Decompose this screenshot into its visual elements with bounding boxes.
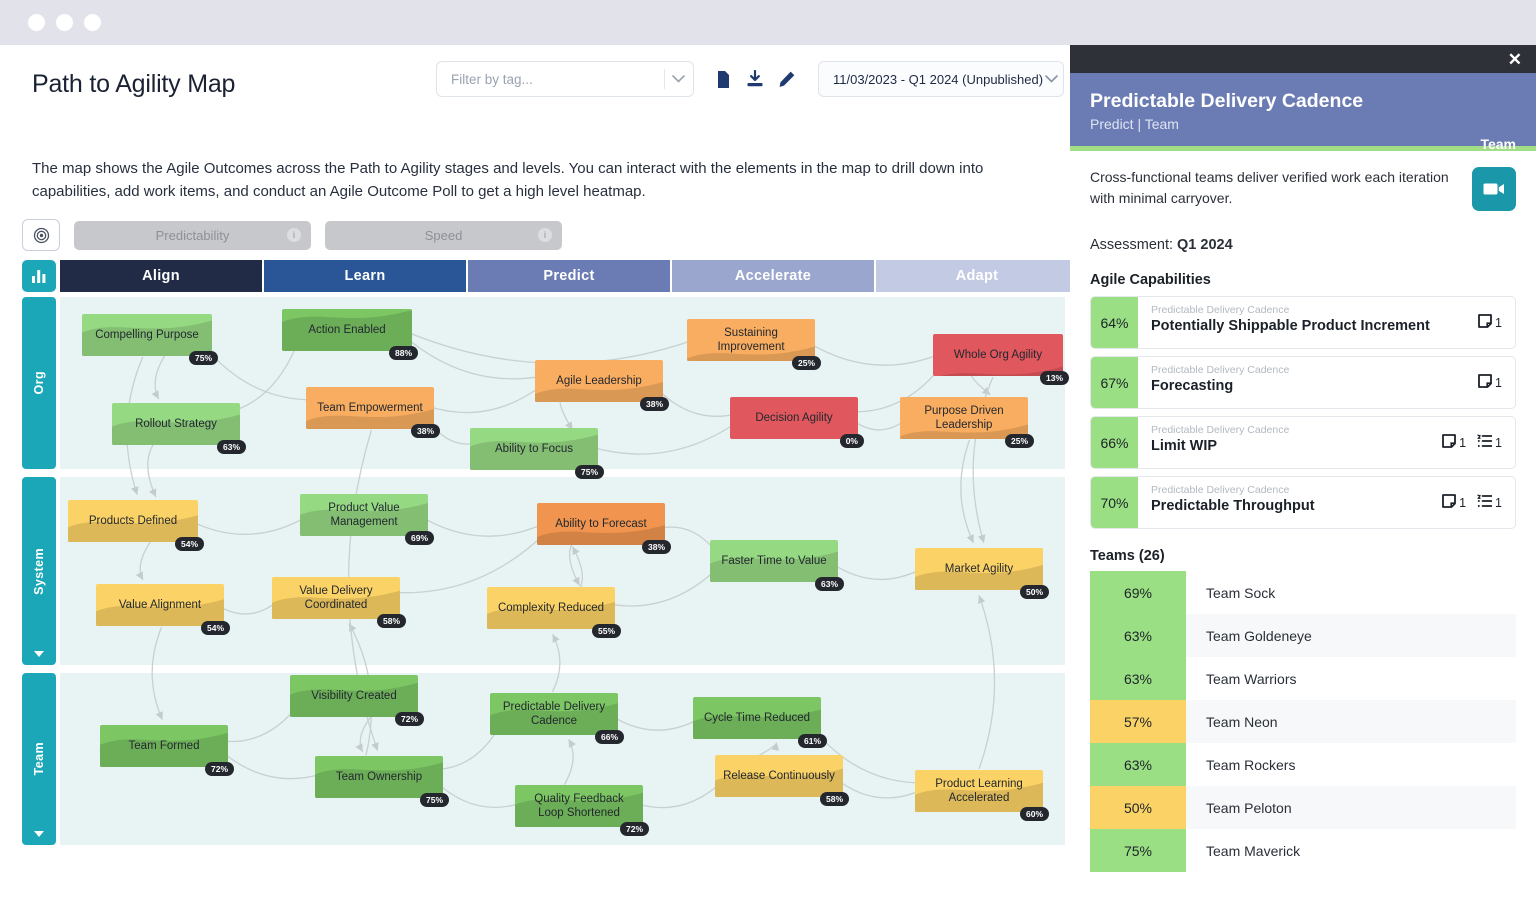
note-icon-group[interactable]: 1 bbox=[1442, 434, 1466, 451]
chart-icon-button[interactable] bbox=[22, 260, 56, 292]
map-node-label: Sustaining Improvement bbox=[694, 326, 808, 354]
team-name: Team Goldeneye bbox=[1186, 614, 1516, 657]
assessment-line: Assessment: Q1 2024 bbox=[1090, 237, 1516, 253]
team-name: Team Sock bbox=[1186, 571, 1516, 614]
team-name: Team Neon bbox=[1186, 700, 1516, 743]
map-node-label: Value Alignment bbox=[119, 598, 201, 612]
capability-name: Potentially Shippable Product Increment bbox=[1151, 317, 1478, 336]
map-node[interactable]: Value Delivery Coordinated58% bbox=[272, 577, 400, 619]
map-node-percent: 54% bbox=[201, 621, 230, 635]
map-node[interactable]: Market Agility50% bbox=[915, 548, 1043, 590]
map-node[interactable]: Ability to Focus75% bbox=[470, 428, 598, 470]
map-node[interactable]: Whole Org Agility13% bbox=[933, 334, 1063, 376]
checklist-icon-group[interactable]: 1 bbox=[1477, 494, 1502, 511]
map-node-label: Team Empowerment bbox=[317, 401, 422, 415]
target-icon-button[interactable] bbox=[22, 219, 60, 251]
map-node-percent: 25% bbox=[792, 356, 821, 370]
capability-icons: 11 bbox=[1442, 477, 1515, 528]
map-node[interactable]: Value Alignment54% bbox=[96, 584, 224, 626]
map-node-label: Decision Agility bbox=[755, 411, 832, 425]
checklist-count: 1 bbox=[1495, 496, 1502, 510]
team-percent: 63% bbox=[1090, 743, 1186, 786]
map-node-label: Predictable Delivery Cadence bbox=[497, 700, 611, 728]
stage-header-learn[interactable]: Learn bbox=[264, 260, 466, 292]
map-node-label: Cycle Time Reduced bbox=[704, 711, 810, 725]
stage-headers: AlignLearnPredictAccelerateAdapt bbox=[60, 260, 1078, 292]
collapse-caret-icon[interactable] bbox=[34, 651, 44, 657]
map-node-label: Market Agility bbox=[945, 562, 1013, 576]
team-percent: 63% bbox=[1090, 614, 1186, 657]
map-node-percent: 75% bbox=[189, 351, 218, 365]
level-rail-label: Team bbox=[32, 742, 46, 775]
map-node-label: Agile Leadership bbox=[556, 374, 642, 388]
panel-topbar: ✕ bbox=[1070, 45, 1536, 73]
capability-percent: 66% bbox=[1091, 417, 1138, 468]
info-icon[interactable]: i bbox=[287, 228, 301, 242]
map-node-label: Ability to Focus bbox=[495, 442, 573, 456]
map-node[interactable]: Sustaining Improvement25% bbox=[687, 319, 815, 361]
map-node[interactable]: Product Learning Accelerated60% bbox=[915, 770, 1043, 812]
note-icon bbox=[1478, 374, 1492, 391]
note-icon bbox=[1478, 314, 1492, 331]
map-node[interactable]: Ability to Forecast38% bbox=[537, 503, 665, 545]
checklist-icon bbox=[1477, 434, 1492, 451]
checklist-icon bbox=[1477, 494, 1492, 511]
chevron-down-icon[interactable] bbox=[1043, 75, 1059, 83]
map-node[interactable]: Product Value Management69% bbox=[300, 494, 428, 536]
note-icon-group[interactable]: 1 bbox=[1478, 374, 1502, 391]
teams-title: Teams (26) bbox=[1090, 548, 1516, 564]
checklist-icon-group[interactable]: 1 bbox=[1477, 434, 1502, 451]
note-icon bbox=[1442, 494, 1456, 511]
team-name: Team Warriors bbox=[1186, 657, 1516, 700]
map-node-label: Ability to Forecast bbox=[555, 517, 646, 531]
team-name: Team Rockers bbox=[1186, 743, 1516, 786]
capability-row[interactable]: 67%Predictable Delivery CadenceForecasti… bbox=[1090, 356, 1516, 409]
map-node-percent: 0% bbox=[840, 434, 864, 448]
map-node-label: Products Defined bbox=[89, 514, 177, 528]
capability-percent: 70% bbox=[1091, 477, 1138, 528]
chevron-down-icon[interactable] bbox=[665, 75, 691, 83]
map-node-percent: 50% bbox=[1020, 585, 1049, 599]
capability-name: Limit WIP bbox=[1151, 437, 1442, 456]
map-node[interactable]: Team Empowerment38% bbox=[306, 387, 434, 429]
map-node-percent: 38% bbox=[640, 397, 669, 411]
stage-header-row: AlignLearnPredictAccelerateAdapt bbox=[22, 260, 1078, 292]
main-content: Path to Agility Map Filter by tag... bbox=[0, 45, 1070, 903]
window-dot-close[interactable] bbox=[28, 14, 45, 31]
team-name: Team Maverick bbox=[1186, 829, 1516, 872]
capabilities-list: 64%Predictable Delivery CadencePotential… bbox=[1090, 296, 1516, 529]
map-node-percent: 75% bbox=[575, 465, 604, 479]
capability-text: Predictable Delivery CadencePotentially … bbox=[1138, 297, 1478, 348]
info-icon[interactable]: i bbox=[538, 228, 552, 242]
map-node[interactable]: Agile Leadership38% bbox=[535, 360, 663, 402]
map-node-percent: 72% bbox=[205, 762, 234, 776]
assessment-value: Q1 2024 bbox=[1177, 237, 1233, 253]
header-icon-buttons bbox=[712, 68, 798, 90]
note-count: 1 bbox=[1459, 496, 1466, 510]
level-rail-system[interactable]: System bbox=[22, 477, 56, 665]
tag-chip-predictability[interactable]: Predictability i bbox=[74, 221, 311, 250]
stage-header-adapt[interactable]: Adapt bbox=[876, 260, 1078, 292]
map-node[interactable]: Action Enabled88% bbox=[282, 309, 412, 351]
map-node-label: Complexity Reduced bbox=[498, 601, 604, 615]
capability-parent: Predictable Delivery Cadence bbox=[1151, 484, 1442, 497]
map-node-percent: 72% bbox=[395, 712, 424, 726]
map-node-percent: 58% bbox=[377, 614, 406, 628]
map-node-percent: 61% bbox=[798, 734, 827, 748]
note-icon bbox=[1442, 434, 1456, 451]
map-node-percent: 58% bbox=[820, 792, 849, 806]
map-node-label: Purpose Driven Leadership bbox=[907, 404, 1021, 432]
collapse-caret-icon[interactable] bbox=[34, 831, 44, 837]
map-node-percent: 60% bbox=[1020, 807, 1049, 821]
tag-chip-label: Predictability bbox=[156, 228, 230, 243]
panel-title: Predictable Delivery Cadence bbox=[1090, 89, 1390, 113]
note-icon-group[interactable]: 1 bbox=[1478, 314, 1502, 331]
map-node-percent: 88% bbox=[389, 346, 418, 360]
capability-percent: 67% bbox=[1091, 357, 1138, 408]
checklist-count: 1 bbox=[1495, 436, 1502, 450]
map-node-percent: 25% bbox=[1005, 434, 1034, 448]
panel-breadcrumb: Predict | Team bbox=[1090, 116, 1516, 132]
team-percent: 69% bbox=[1090, 571, 1186, 614]
map-node[interactable]: Products Defined54% bbox=[68, 500, 198, 542]
note-count: 1 bbox=[1459, 436, 1466, 450]
capability-text: Predictable Delivery CadenceForecasting bbox=[1138, 357, 1478, 408]
agility-map: OrgSystemTeam Compelling Purpose75%Actio… bbox=[22, 297, 1065, 845]
team-percent: 57% bbox=[1090, 700, 1186, 743]
video-camera-icon[interactable] bbox=[1472, 167, 1516, 211]
capability-name: Forecasting bbox=[1151, 377, 1478, 396]
map-node[interactable]: Visibility Created72% bbox=[290, 675, 418, 717]
assessment-date-value: 11/03/2023 - Q1 2024 (Unpublished) bbox=[833, 72, 1043, 87]
map-node-percent: 38% bbox=[411, 424, 440, 438]
map-node[interactable]: Predictable Delivery Cadence66% bbox=[490, 693, 618, 735]
note-count: 1 bbox=[1495, 376, 1502, 390]
panel-description-row: Cross-functional teams deliver verified … bbox=[1090, 167, 1516, 211]
map-node-percent: 63% bbox=[815, 577, 844, 591]
note-icon-group[interactable]: 1 bbox=[1442, 494, 1466, 511]
note-count: 1 bbox=[1495, 316, 1502, 330]
stage-label: Predict bbox=[543, 268, 594, 284]
capabilities-title: Agile Capabilities bbox=[1090, 272, 1516, 288]
team-row[interactable]: 57%Team Neon bbox=[1090, 700, 1516, 743]
capability-icons: 11 bbox=[1442, 417, 1515, 468]
map-node-label: Rollout Strategy bbox=[135, 417, 217, 431]
map-node-percent: 69% bbox=[405, 531, 434, 545]
map-node-label: Whole Org Agility bbox=[954, 348, 1042, 362]
team-percent: 75% bbox=[1090, 829, 1186, 872]
map-node-label: Quality Feedback Loop Shortened bbox=[522, 792, 636, 820]
capability-text: Predictable Delivery CadenceLimit WIP bbox=[1138, 417, 1442, 468]
stage-label: Accelerate bbox=[735, 268, 811, 284]
teams-list: 69%Team Sock63%Team Goldeneye63%Team War… bbox=[1090, 571, 1516, 872]
capability-name: Predictable Throughput bbox=[1151, 497, 1442, 516]
stage-header-align[interactable]: Align bbox=[60, 260, 262, 292]
map-node[interactable]: Faster Time to Value63% bbox=[710, 540, 838, 582]
map-node-label: Value Delivery Coordinated bbox=[279, 584, 393, 612]
team-percent: 63% bbox=[1090, 657, 1186, 700]
map-node[interactable]: Quality Feedback Loop Shortened72% bbox=[515, 785, 643, 827]
capability-icons: 1 bbox=[1478, 297, 1515, 348]
window-dot-maximize[interactable] bbox=[84, 14, 101, 31]
window-dot-minimize[interactable] bbox=[56, 14, 73, 31]
window-titlebar bbox=[0, 0, 1536, 45]
team-row[interactable]: 50%Team Peloton bbox=[1090, 786, 1516, 829]
stage-label: Learn bbox=[345, 268, 386, 284]
document-icon[interactable] bbox=[712, 68, 734, 90]
map-node-percent: 63% bbox=[217, 440, 246, 454]
capability-row[interactable]: 70%Predictable Delivery CadencePredictab… bbox=[1090, 476, 1516, 529]
level-rail-label: System bbox=[32, 548, 46, 595]
tag-chip-row: Predictability i Speed i bbox=[22, 219, 562, 251]
map-node[interactable]: Compelling Purpose75% bbox=[82, 314, 212, 356]
map-node-percent: 75% bbox=[420, 793, 449, 807]
tag-filter-select[interactable]: Filter by tag... bbox=[436, 61, 694, 97]
team-name: Team Peloton bbox=[1186, 786, 1516, 829]
panel-body: Cross-functional teams deliver verified … bbox=[1070, 151, 1536, 872]
map-node[interactable]: Team Ownership75% bbox=[315, 756, 443, 798]
team-row[interactable]: 63%Team Goldeneye bbox=[1090, 614, 1516, 657]
capability-parent: Predictable Delivery Cadence bbox=[1151, 364, 1478, 377]
map-node-label: Team Ownership bbox=[336, 770, 422, 784]
capability-percent: 64% bbox=[1091, 297, 1138, 348]
capability-icons: 1 bbox=[1478, 357, 1515, 408]
map-node-label: Product Value Management bbox=[307, 501, 421, 529]
level-rail-label: Org bbox=[32, 371, 46, 394]
stage-header-accelerate[interactable]: Accelerate bbox=[672, 260, 874, 292]
map-node-label: Faster Time to Value bbox=[721, 554, 826, 568]
map-node-percent: 38% bbox=[642, 540, 671, 554]
edit-icon[interactable] bbox=[776, 68, 798, 90]
map-node-percent: 54% bbox=[175, 537, 204, 551]
capability-row[interactable]: 66%Predictable Delivery CadenceLimit WIP… bbox=[1090, 416, 1516, 469]
panel-level-tag: Team bbox=[1480, 136, 1516, 152]
stage-label: Adapt bbox=[956, 268, 999, 284]
map-node-label: Team Formed bbox=[129, 739, 200, 753]
capability-parent: Predictable Delivery Cadence bbox=[1151, 424, 1442, 437]
level-rail-org[interactable]: Org bbox=[22, 297, 56, 469]
page-title: Path to Agility Map bbox=[32, 70, 235, 99]
capability-parent: Predictable Delivery Cadence bbox=[1151, 304, 1478, 317]
map-node-percent: 72% bbox=[620, 822, 649, 836]
map-node[interactable]: Rollout Strategy63% bbox=[112, 403, 240, 445]
panel-hero: Predictable Delivery Cadence Predict | T… bbox=[1070, 73, 1536, 151]
download-icon[interactable] bbox=[744, 68, 766, 90]
map-node-percent: 66% bbox=[595, 730, 624, 744]
team-row[interactable]: 63%Team Warriors bbox=[1090, 657, 1516, 700]
detail-panel: ✕ Predictable Delivery Cadence Predict |… bbox=[1070, 45, 1536, 903]
team-row[interactable]: 63%Team Rockers bbox=[1090, 743, 1516, 786]
assessment-date-select[interactable]: 11/03/2023 - Q1 2024 (Unpublished) bbox=[818, 61, 1064, 97]
capability-text: Predictable Delivery CadencePredictable … bbox=[1138, 477, 1442, 528]
page-header: Path to Agility Map Filter by tag... bbox=[32, 61, 1050, 107]
capability-row[interactable]: 64%Predictable Delivery CadencePotential… bbox=[1090, 296, 1516, 349]
tag-filter-placeholder: Filter by tag... bbox=[451, 72, 664, 87]
map-node-percent: 55% bbox=[592, 624, 621, 638]
map-node[interactable]: Decision Agility0% bbox=[730, 397, 858, 439]
stage-label: Align bbox=[142, 268, 180, 284]
stage-header-predict[interactable]: Predict bbox=[468, 260, 670, 292]
level-rail-team[interactable]: Team bbox=[22, 673, 56, 845]
page-description: The map shows the Agile Outcomes across … bbox=[32, 157, 1037, 203]
map-node-label: Action Enabled bbox=[308, 323, 385, 337]
map-node[interactable]: Complexity Reduced55% bbox=[487, 587, 615, 629]
close-icon[interactable]: ✕ bbox=[1508, 51, 1522, 68]
map-node-label: Product Learning Accelerated bbox=[922, 777, 1036, 805]
map-node[interactable]: Cycle Time Reduced61% bbox=[693, 697, 821, 739]
map-node[interactable]: Team Formed72% bbox=[100, 725, 228, 767]
map-node-label: Release Continuously bbox=[723, 769, 835, 783]
map-node-percent: 13% bbox=[1040, 371, 1069, 385]
team-percent: 50% bbox=[1090, 786, 1186, 829]
tag-chip-label: Speed bbox=[425, 228, 463, 243]
header-tools: Filter by tag... bbox=[436, 61, 1064, 97]
panel-description: Cross-functional teams deliver verified … bbox=[1090, 167, 1460, 209]
tag-chip-speed[interactable]: Speed i bbox=[325, 221, 562, 250]
map-node-label: Compelling Purpose bbox=[95, 328, 199, 342]
assessment-label: Assessment: bbox=[1090, 237, 1173, 253]
map-node[interactable]: Release Continuously58% bbox=[715, 755, 843, 797]
team-row[interactable]: 69%Team Sock bbox=[1090, 571, 1516, 614]
team-row[interactable]: 75%Team Maverick bbox=[1090, 829, 1516, 872]
map-node[interactable]: Purpose Driven Leadership25% bbox=[900, 397, 1028, 439]
map-node-label: Visibility Created bbox=[311, 689, 396, 703]
